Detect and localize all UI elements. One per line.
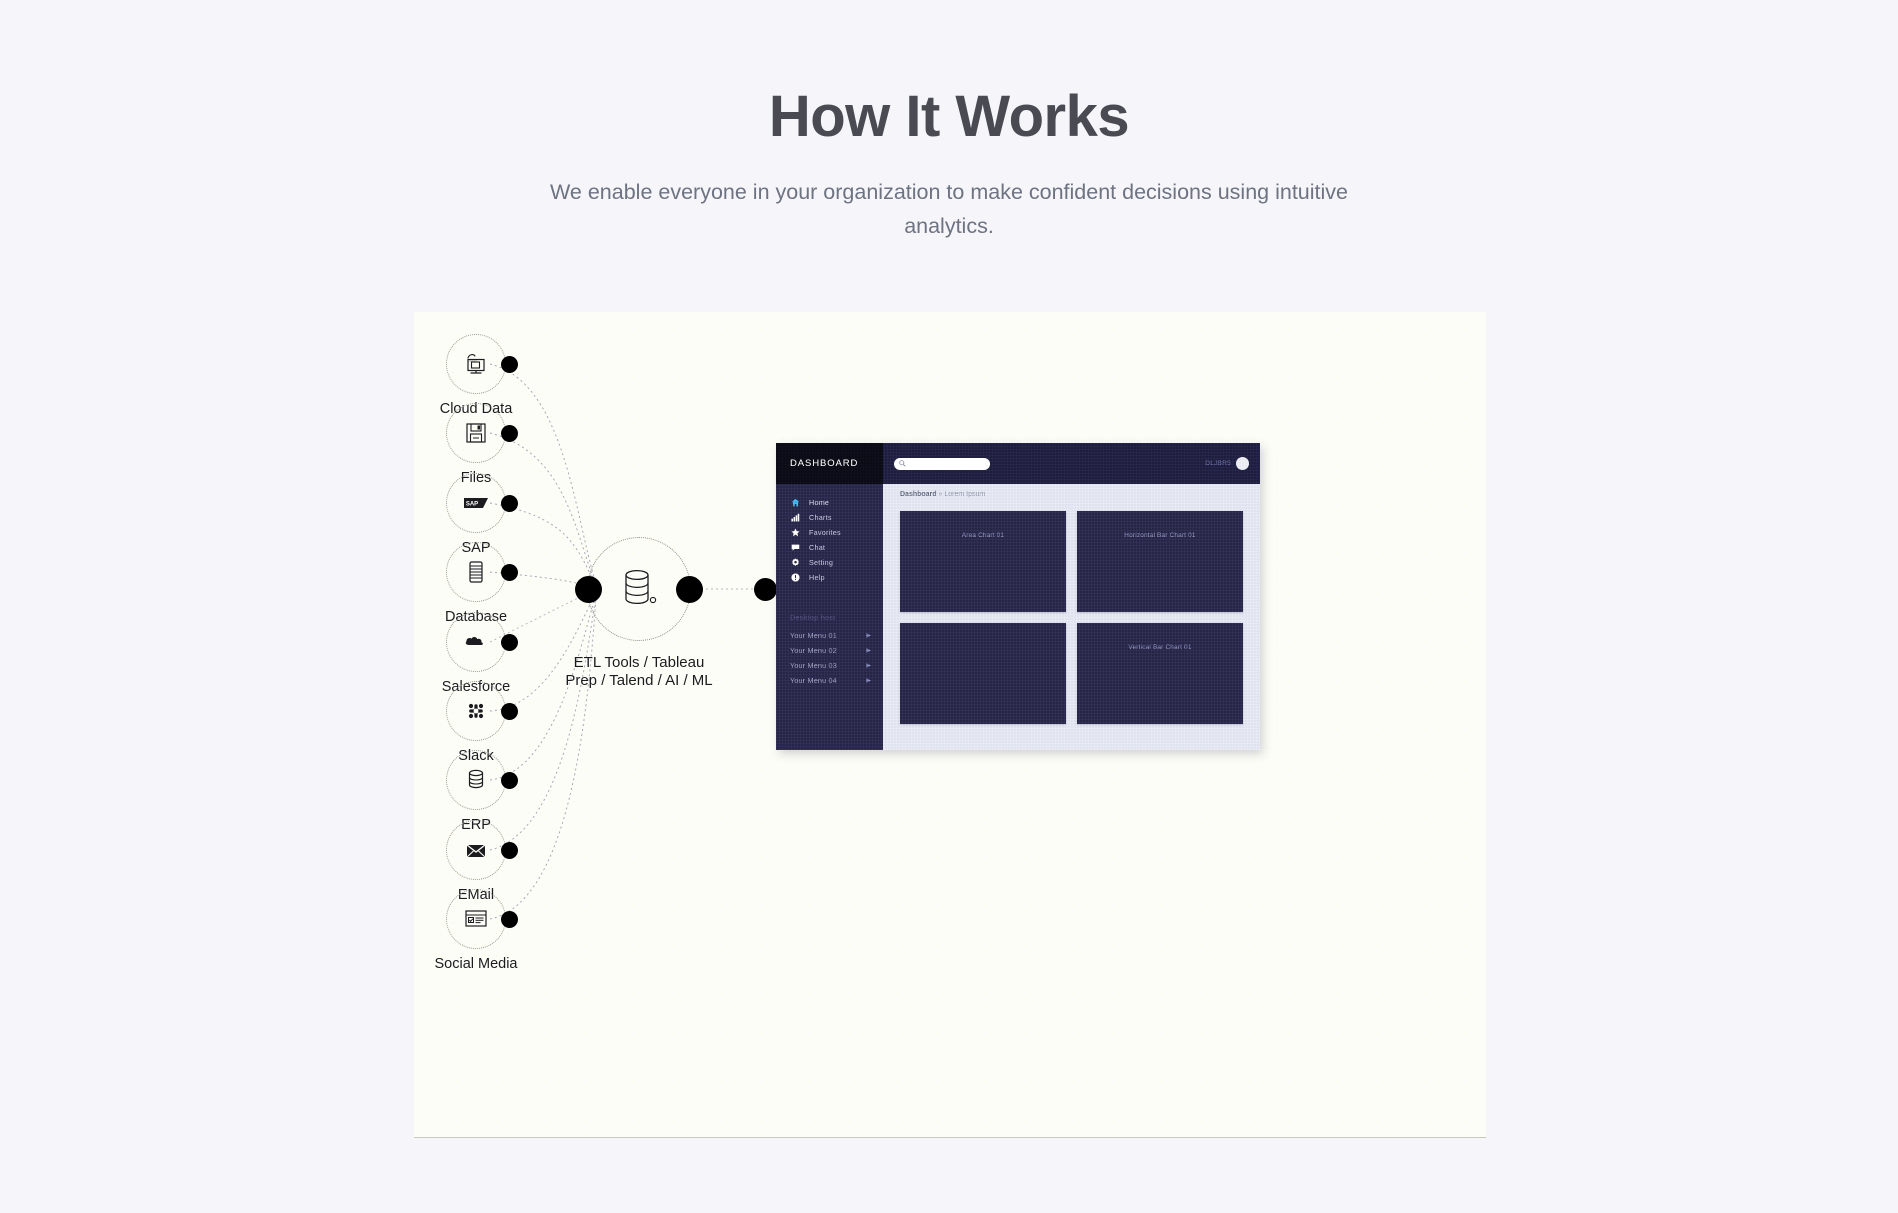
connector-dot — [501, 495, 518, 512]
dashboard-panel-vertical-bar-chart[interactable]: Vertical Bar Chart 01 — [1077, 623, 1243, 724]
breadcrumb: Dashboard » Lorem Ipsum — [883, 484, 1260, 498]
etl-hub-node[interactable]: ETL Tools / Tableau Prep / Talend / AI /… — [534, 537, 744, 691]
nav-label: Help — [809, 573, 825, 582]
user-label: DLJBR5 — [1205, 460, 1231, 467]
dashboard-panel-blank[interactable] — [900, 623, 1066, 724]
page-subtitle: We enable everyone in your organization … — [539, 175, 1359, 245]
cloud-data-icon — [462, 351, 490, 377]
panel-title: Horizontal Bar Chart 01 — [1077, 532, 1243, 539]
source-circle — [446, 750, 506, 810]
connector-dot — [501, 356, 518, 373]
dashboard-panel-grid: Area Chart 01 Horizontal Bar Chart 01 Ve… — [883, 498, 1260, 750]
nav-item-home[interactable]: Home — [776, 495, 883, 510]
nav-item-charts[interactable]: Charts — [776, 510, 883, 525]
dashboard-panel-area-chart[interactable]: Area Chart 01 — [900, 511, 1066, 612]
nav-item-setting[interactable]: Setting — [776, 555, 883, 570]
source-circle — [446, 403, 506, 463]
hub-input-dot — [575, 576, 602, 603]
home-icon — [790, 498, 801, 507]
source-circle — [446, 542, 506, 602]
submenu-label: Your Menu 03 — [790, 661, 837, 670]
dashboard-mockup[interactable]: DASHBOARD Home Charts — [776, 443, 1260, 750]
source-circle — [446, 820, 506, 880]
browser-window-icon — [462, 907, 490, 931]
submenu-item-2[interactable]: Your Menu 02 ▶ — [776, 643, 883, 658]
search-icon — [899, 460, 906, 467]
submenu-item-3[interactable]: Your Menu 03 ▶ — [776, 658, 883, 673]
hub-label: ETL Tools / Tableau Prep / Talend / AI /… — [534, 654, 744, 691]
source-circle: SAP — [446, 473, 506, 533]
connector-dot — [501, 703, 518, 720]
nav-item-help[interactable]: Help — [776, 570, 883, 585]
avatar[interactable] — [1236, 457, 1249, 470]
dashboard-main: DLJBR5 Dashboard » Lorem Ipsum Area Char… — [883, 443, 1260, 750]
source-circle — [446, 612, 506, 672]
source-circle — [446, 334, 506, 394]
connector-dot — [501, 564, 518, 581]
connector-dot — [501, 911, 518, 928]
database-cylinder-icon — [617, 565, 661, 613]
dashboard-panel-horizontal-bar-chart[interactable]: Horizontal Bar Chart 01 — [1077, 511, 1243, 612]
panel-title: Vertical Bar Chart 01 — [1077, 644, 1243, 651]
chevron-right-icon: ▶ — [866, 678, 871, 684]
chevron-right-icon: ▶ — [866, 648, 871, 654]
svg-text:SAP: SAP — [466, 501, 478, 507]
how-it-works-diagram-card: Cloud Data Files SAP — [414, 312, 1486, 1138]
chevron-right-icon: ▶ — [866, 663, 871, 669]
hub-circle — [587, 537, 691, 641]
search-input[interactable] — [894, 458, 990, 470]
panel-title: Area Chart 01 — [900, 532, 1066, 539]
nav-label: Charts — [809, 513, 832, 522]
nav-label: Chat — [809, 543, 825, 552]
dashboard-topbar: DLJBR5 — [883, 443, 1260, 484]
dashboard-sidebar: DASHBOARD Home Charts — [776, 443, 883, 750]
chat-bubble-icon — [790, 543, 801, 552]
connector-dot — [501, 425, 518, 442]
hub-output-dot — [676, 576, 703, 603]
dashboard-brand: DASHBOARD — [776, 443, 883, 484]
dashboard-input-dot — [754, 578, 777, 601]
info-icon — [790, 573, 801, 582]
erp-database-icon — [465, 767, 487, 793]
envelope-icon — [462, 840, 490, 860]
slack-icon — [465, 700, 487, 722]
dashboard-user-area[interactable]: DLJBR5 — [1205, 457, 1249, 470]
source-circle — [446, 681, 506, 741]
bar-chart-icon — [790, 513, 801, 522]
nav-label: Home — [809, 498, 829, 507]
nav-label: Favorites — [809, 528, 841, 537]
diagram-canvas: Cloud Data Files SAP — [414, 312, 1486, 1137]
chevron-right-icon: ▶ — [866, 633, 871, 639]
connector-dot — [501, 634, 518, 651]
connector-dot — [501, 842, 518, 859]
submenu-label: Your Menu 02 — [790, 646, 837, 655]
nav-item-chat[interactable]: Chat — [776, 540, 883, 555]
submenu-label: Your Menu 01 — [790, 631, 837, 640]
source-label: Social Media — [426, 956, 526, 973]
page-title: How It Works — [0, 86, 1898, 149]
source-circle — [446, 889, 506, 949]
nav-item-favorites[interactable]: Favorites — [776, 525, 883, 540]
source-node-social-media[interactable]: Social Media — [426, 889, 526, 973]
floppy-disk-icon — [463, 420, 489, 446]
nav-group-title: Desktop host — [776, 615, 883, 622]
database-stack-icon — [464, 558, 488, 586]
dashboard-nav-list: Home Charts Favorites — [776, 484, 883, 585]
dashboard-submenu-list: Your Menu 01 ▶ Your Menu 02 ▶ Your Menu … — [776, 628, 883, 688]
breadcrumb-root[interactable]: Dashboard — [900, 491, 937, 498]
submenu-item-1[interactable]: Your Menu 01 ▶ — [776, 628, 883, 643]
sap-logo-icon: SAP — [461, 493, 491, 513]
breadcrumb-current: Lorem Ipsum — [944, 491, 985, 498]
salesforce-cloud-icon — [461, 632, 491, 652]
gear-icon — [790, 558, 801, 567]
star-icon — [790, 528, 801, 537]
nav-label: Setting — [809, 558, 833, 567]
page-header: How It Works We enable everyone in your … — [0, 0, 1898, 244]
submenu-label: Your Menu 04 — [790, 676, 837, 685]
connector-dot — [501, 772, 518, 789]
submenu-item-4[interactable]: Your Menu 04 ▶ — [776, 673, 883, 688]
